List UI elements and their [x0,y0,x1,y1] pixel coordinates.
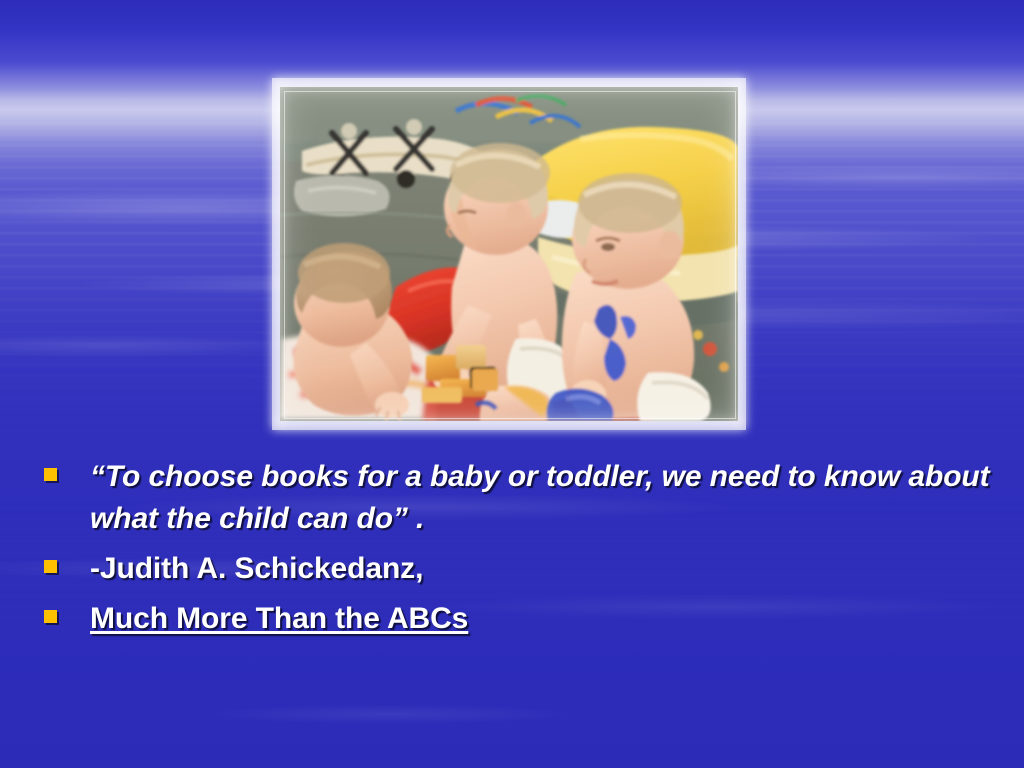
photo-babies-playing [280,87,738,421]
quote-text: “To choose books for a baby or toddler, … [90,456,994,540]
book-title-text: Much More Than the ABCs [90,598,994,640]
square-bullet-icon [44,560,57,573]
list-item: -Judith A. Schickedanz, [44,548,994,590]
photo-illustration [280,87,738,421]
square-bullet-icon [44,468,57,481]
presentation-slide: “To choose books for a baby or toddler, … [0,0,1024,768]
square-bullet-icon [44,610,57,623]
list-item: “To choose books for a baby or toddler, … [44,456,994,540]
attribution-text: -Judith A. Schickedanz, [90,548,994,590]
photo-frame [272,78,746,430]
bullet-list: “To choose books for a baby or toddler, … [44,456,994,648]
list-item: Much More Than the ABCs [44,598,994,640]
